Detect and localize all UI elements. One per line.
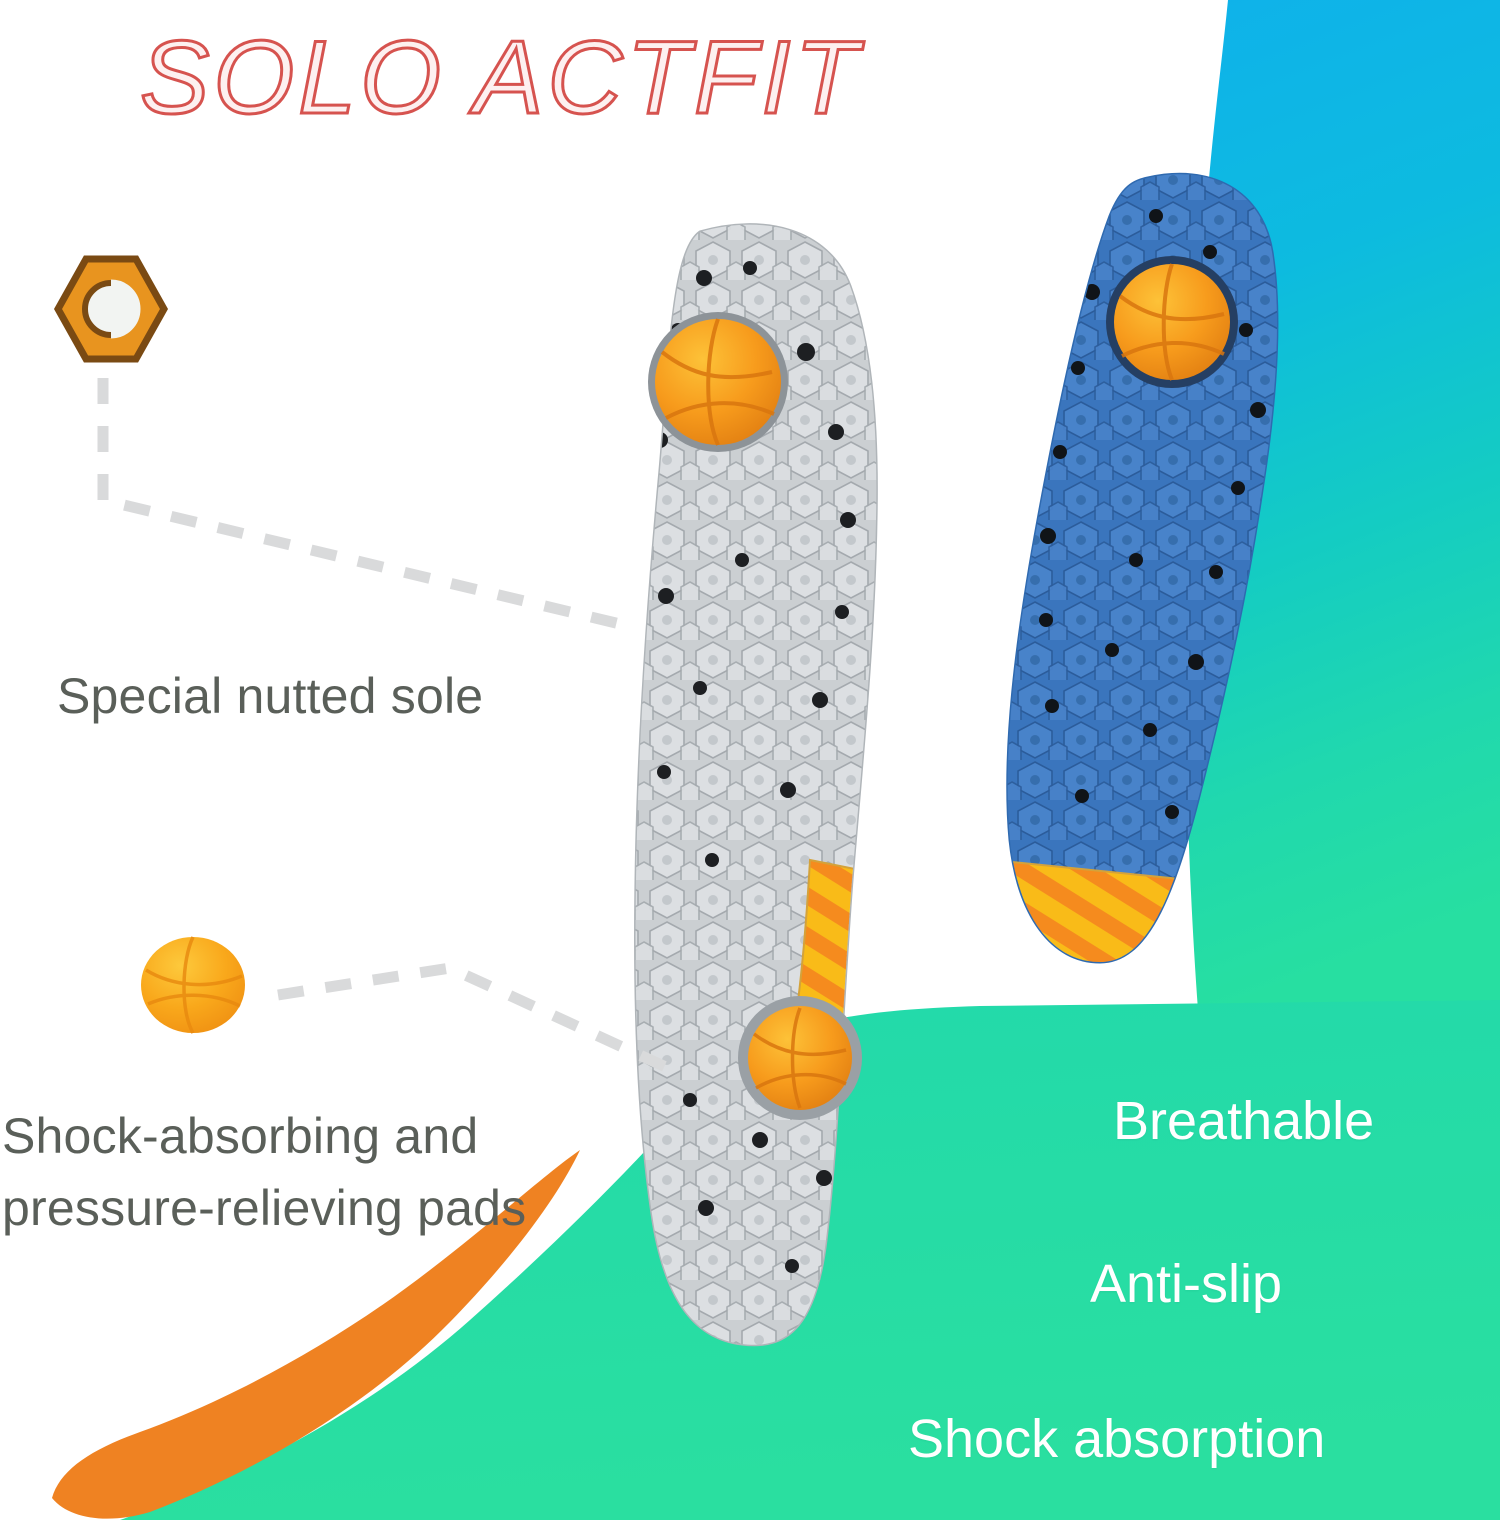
basketball-pad-icon xyxy=(138,934,248,1036)
hex-nut-icon xyxy=(52,255,170,363)
callout-label-nutted-sole: Special nutted sole xyxy=(57,660,527,732)
feature-label-breathable: Breathable xyxy=(1113,1090,1374,1152)
background-cyan-teal-panel xyxy=(1186,0,1500,1010)
feature-label-shock-absorption: Shock absorption xyxy=(908,1408,1325,1470)
page-title: SOLO ACTFIT xyxy=(140,22,1180,134)
callout-label-shock-pads: Shock-absorbing and pressure-relieving p… xyxy=(2,1100,702,1244)
feature-label-anti-slip: Anti-slip xyxy=(1090,1253,1282,1315)
product-infographic: SOLO ACTFIT xyxy=(0,0,1500,1520)
